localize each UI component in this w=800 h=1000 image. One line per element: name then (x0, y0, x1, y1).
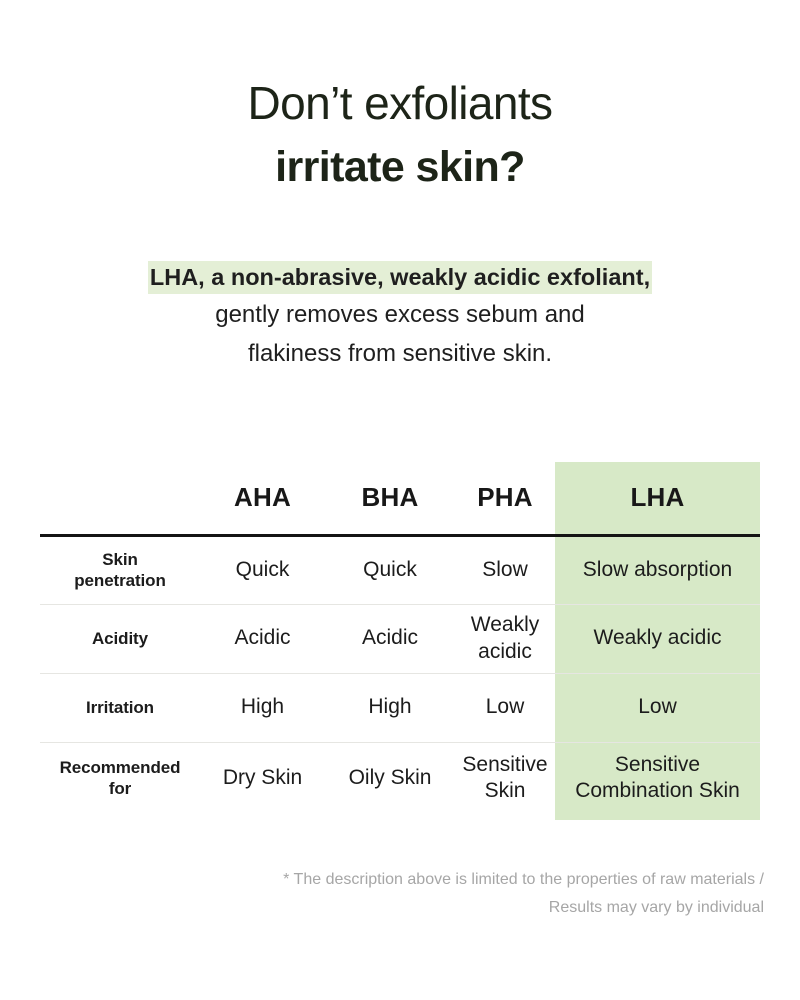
cell-skin-penetration-lha: Slow absorption (555, 535, 760, 604)
table-row: Skin penetration Quick Quick Slow Slow a… (40, 535, 760, 604)
highlighted-text: LHA, a non-abrasive, weakly acidic exfol… (148, 261, 652, 294)
table-corner-cell (40, 462, 200, 535)
headline-line-2: irritate skin? (0, 139, 800, 196)
row-label-line-2: for (109, 779, 131, 798)
cell-recommended-bha: Oily Skin (325, 742, 455, 814)
cell-recommended-aha: Dry Skin (200, 742, 325, 814)
row-label-line-1: Recommended (60, 758, 181, 777)
cell-skin-penetration-aha: Quick (200, 535, 325, 604)
cell-irritation-lha: Low (555, 673, 760, 742)
cell-acidity-pha: Weakly acidic (455, 604, 555, 673)
column-header-bha: BHA (325, 462, 455, 535)
table-row: Irritation High High Low Low (40, 673, 760, 742)
row-label-line-2: penetration (74, 571, 165, 590)
table-row: Recommended for Dry Skin Oily Skin Sensi… (40, 742, 760, 814)
row-label-irritation: Irritation (40, 673, 200, 742)
cell-recommended-lha: Sensitive Combination Skin (555, 742, 760, 814)
row-label-recommended-for: Recommended for (40, 742, 200, 814)
subheading-line-2: gently removes excess sebum and (0, 296, 800, 335)
subheading-emphasis-line: LHA, a non-abrasive, weakly acidic exfol… (0, 258, 800, 296)
footnote-line-1: * The description above is limited to th… (0, 866, 764, 894)
footnote: * The description above is limited to th… (0, 866, 764, 922)
comparison-table-wrapper: AHA BHA PHA LHA Skin penetration Quick Q… (40, 462, 760, 814)
table-row: Acidity Acidic Acidic Weakly acidic Weak… (40, 604, 760, 673)
column-header-pha: PHA (455, 462, 555, 535)
page-title: Don’t exfoliants irritate skin? (0, 74, 800, 196)
subheading-block: LHA, a non-abrasive, weakly acidic exfol… (0, 258, 800, 374)
footnote-line-2: Results may vary by individual (0, 894, 764, 922)
column-header-lha: LHA (555, 462, 760, 535)
cell-acidity-aha: Acidic (200, 604, 325, 673)
cell-irritation-pha: Low (455, 673, 555, 742)
subheading-line-3: flakiness from sensitive skin. (0, 335, 800, 374)
cell-recommended-pha: Sensitive Skin (455, 742, 555, 814)
row-label-line-1: Skin (102, 550, 138, 569)
table-header: AHA BHA PHA LHA (40, 462, 760, 535)
table-body: Skin penetration Quick Quick Slow Slow a… (40, 535, 760, 814)
table-header-row: AHA BHA PHA LHA (40, 462, 760, 535)
cell-irritation-bha: High (325, 673, 455, 742)
headline-line-1: Don’t exfoliants (0, 74, 800, 133)
row-label-skin-penetration: Skin penetration (40, 535, 200, 604)
cell-skin-penetration-pha: Slow (455, 535, 555, 604)
cell-acidity-lha: Weakly acidic (555, 604, 760, 673)
cell-skin-penetration-bha: Quick (325, 535, 455, 604)
cell-acidity-bha: Acidic (325, 604, 455, 673)
row-label-acidity: Acidity (40, 604, 200, 673)
cell-irritation-aha: High (200, 673, 325, 742)
column-header-aha: AHA (200, 462, 325, 535)
exfoliant-comparison-table: AHA BHA PHA LHA Skin penetration Quick Q… (40, 462, 760, 814)
